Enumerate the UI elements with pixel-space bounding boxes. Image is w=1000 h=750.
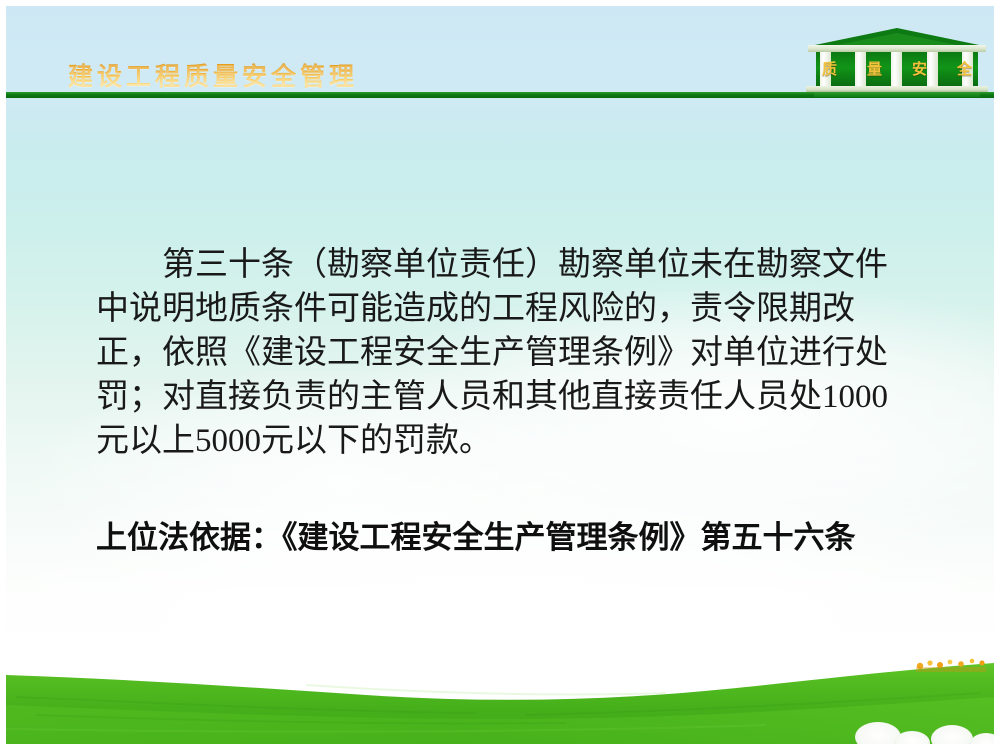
logo-plinth-icon (814, 92, 980, 97)
logo-text-group: 质 量 安 全 (818, 59, 976, 81)
body-paragraph-legal-basis: 上位法依据：《建设工程安全生产管理条例》第五十六条 (96, 515, 916, 560)
page-title: 建设工程质量安全管理 (68, 62, 358, 92)
slide-body-text: 第三十条（勘察单位责任）勘察单位未在勘察文件中说明地质条件可能造成的工程风险的，… (96, 243, 916, 560)
body-paragraph-article-30: 第三十条（勘察单位责任）勘察单位未在勘察文件中说明地质条件可能造成的工程风险的，… (96, 243, 916, 463)
quality-safety-building-logo: 质 量 安 全 (806, 28, 988, 98)
slide-canvas: 建设工程质量安全管理 质 量 安 全 第三十条（勘察单位责任）勘察单位未在勘察文… (0, 0, 1000, 750)
logo-char-zhi: 质 (822, 62, 837, 78)
grass-meadow-decoration (6, 619, 994, 744)
logo-char-an: 安 (912, 62, 927, 78)
logo-char-liang: 量 (867, 62, 882, 78)
logo-architrave-icon (808, 45, 986, 52)
logo-char-quan: 全 (957, 62, 972, 78)
